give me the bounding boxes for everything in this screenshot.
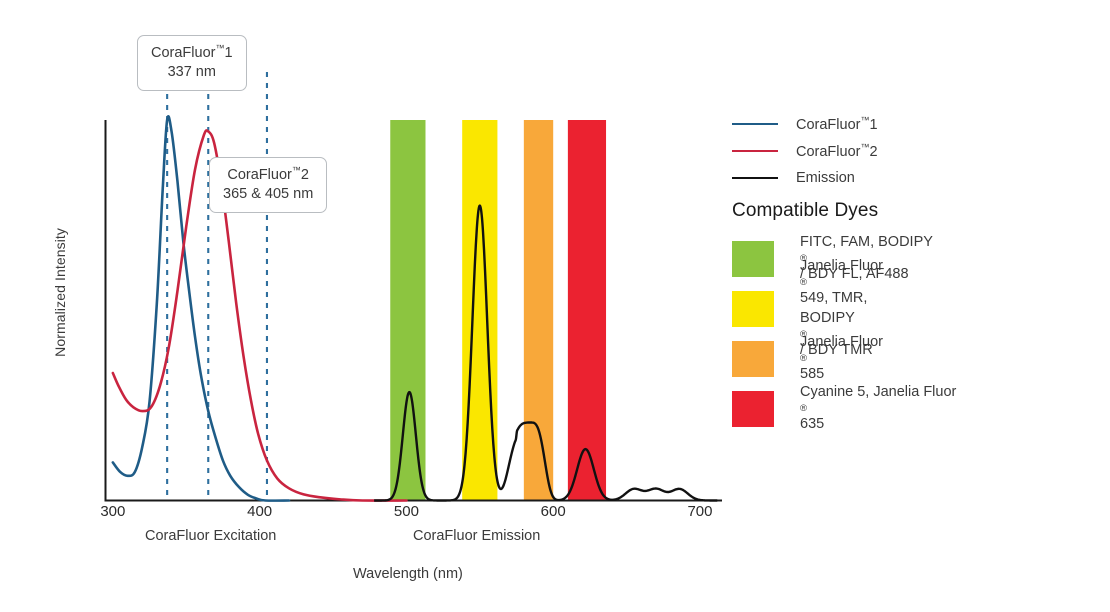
dye-label: Janelia Fluor® 585: [800, 333, 883, 385]
region-label-emission: CoraFluor Emission: [413, 528, 540, 544]
compatible-dyes-list: FITC, FAM, BODIPY®/ BDY FL, AF488Janelia…: [732, 234, 1102, 434]
plot-area: Normalized Intensity Wavelength (nm) Cor…: [0, 0, 730, 612]
dye-label-line1: Janelia Fluor® 585: [800, 333, 883, 385]
y-axis-title: Normalized Intensity: [52, 228, 68, 357]
chart-page: Normalized Intensity Wavelength (nm) Cor…: [0, 0, 1110, 612]
trademark-symbol: ™: [215, 43, 224, 53]
dye-color-swatch: [732, 391, 774, 427]
annotation-corafluor1: CoraFluor™1 337 nm: [137, 35, 247, 91]
dye-color-swatch: [732, 241, 774, 277]
trademark-symbol: ™: [860, 142, 869, 152]
legend-line-swatch: [732, 150, 778, 152]
series-legend: CoraFluor™1CoraFluor™2Emission: [732, 110, 1062, 191]
x-axis-title: Wavelength (nm): [353, 566, 463, 582]
legend-line-swatch: [732, 123, 778, 125]
legend-line-swatch: [732, 177, 778, 179]
x-tick-500: 500: [394, 503, 419, 520]
annotation-corafluor2: CoraFluor™2 365 & 405 nm: [209, 157, 327, 213]
dye-color-swatch: [732, 291, 774, 327]
x-tick-700: 700: [687, 503, 712, 520]
dye-label-line1: Janelia Fluor® 549, TMR,: [800, 257, 883, 309]
dye-color-swatch: [732, 341, 774, 377]
legend-row-2: Emission: [732, 164, 1062, 191]
x-tick-600: 600: [541, 503, 566, 520]
legend-label: CoraFluor™2: [796, 142, 878, 160]
spectra-svg: [0, 0, 730, 612]
compatible-dyes-title: Compatible Dyes: [732, 200, 878, 222]
legend-panel: CoraFluor™1CoraFluor™2Emission Compatibl…: [730, 0, 1110, 612]
red-band: [568, 120, 606, 501]
annotation-corafluor1-line1: CoraFluor™1: [151, 43, 233, 63]
green-band: [390, 120, 425, 501]
legend-label: CoraFluor™1: [796, 115, 878, 133]
trademark-symbol: ™: [292, 165, 301, 175]
x-tick-400: 400: [247, 503, 272, 520]
dye-row-3: Cyanine 5, Janelia Fluor® 635: [732, 384, 1102, 434]
dye-label-line1: Cyanine 5, Janelia Fluor® 635: [800, 383, 956, 435]
orange-band: [524, 120, 553, 501]
legend-label: Emission: [796, 170, 855, 186]
dye-row-2: Janelia Fluor® 585: [732, 334, 1102, 384]
dye-label: Cyanine 5, Janelia Fluor® 635: [800, 383, 956, 435]
annotation-corafluor1-line2: 337 nm: [151, 63, 233, 82]
region-label-excitation: CoraFluor Excitation: [145, 528, 276, 544]
x-tick-300: 300: [100, 503, 125, 520]
registered-symbol: ®: [800, 277, 883, 290]
annotation-corafluor2-line1: CoraFluor™2: [223, 165, 313, 185]
filter-bands-group: [390, 120, 606, 501]
dye-row-0: FITC, FAM, BODIPY®/ BDY FL, AF488: [732, 234, 1102, 284]
dye-row-1: Janelia Fluor® 549, TMR,BODIPY®/ BDY TMR: [732, 284, 1102, 334]
legend-row-0: CoraFluor™1: [732, 110, 1062, 137]
registered-symbol: ®: [800, 353, 883, 366]
legend-row-1: CoraFluor™2: [732, 137, 1062, 164]
trademark-symbol: ™: [860, 115, 869, 125]
annotation-corafluor2-line2: 365 & 405 nm: [223, 185, 313, 204]
marker-lines-group: [167, 72, 267, 501]
registered-symbol: ®: [800, 403, 956, 416]
